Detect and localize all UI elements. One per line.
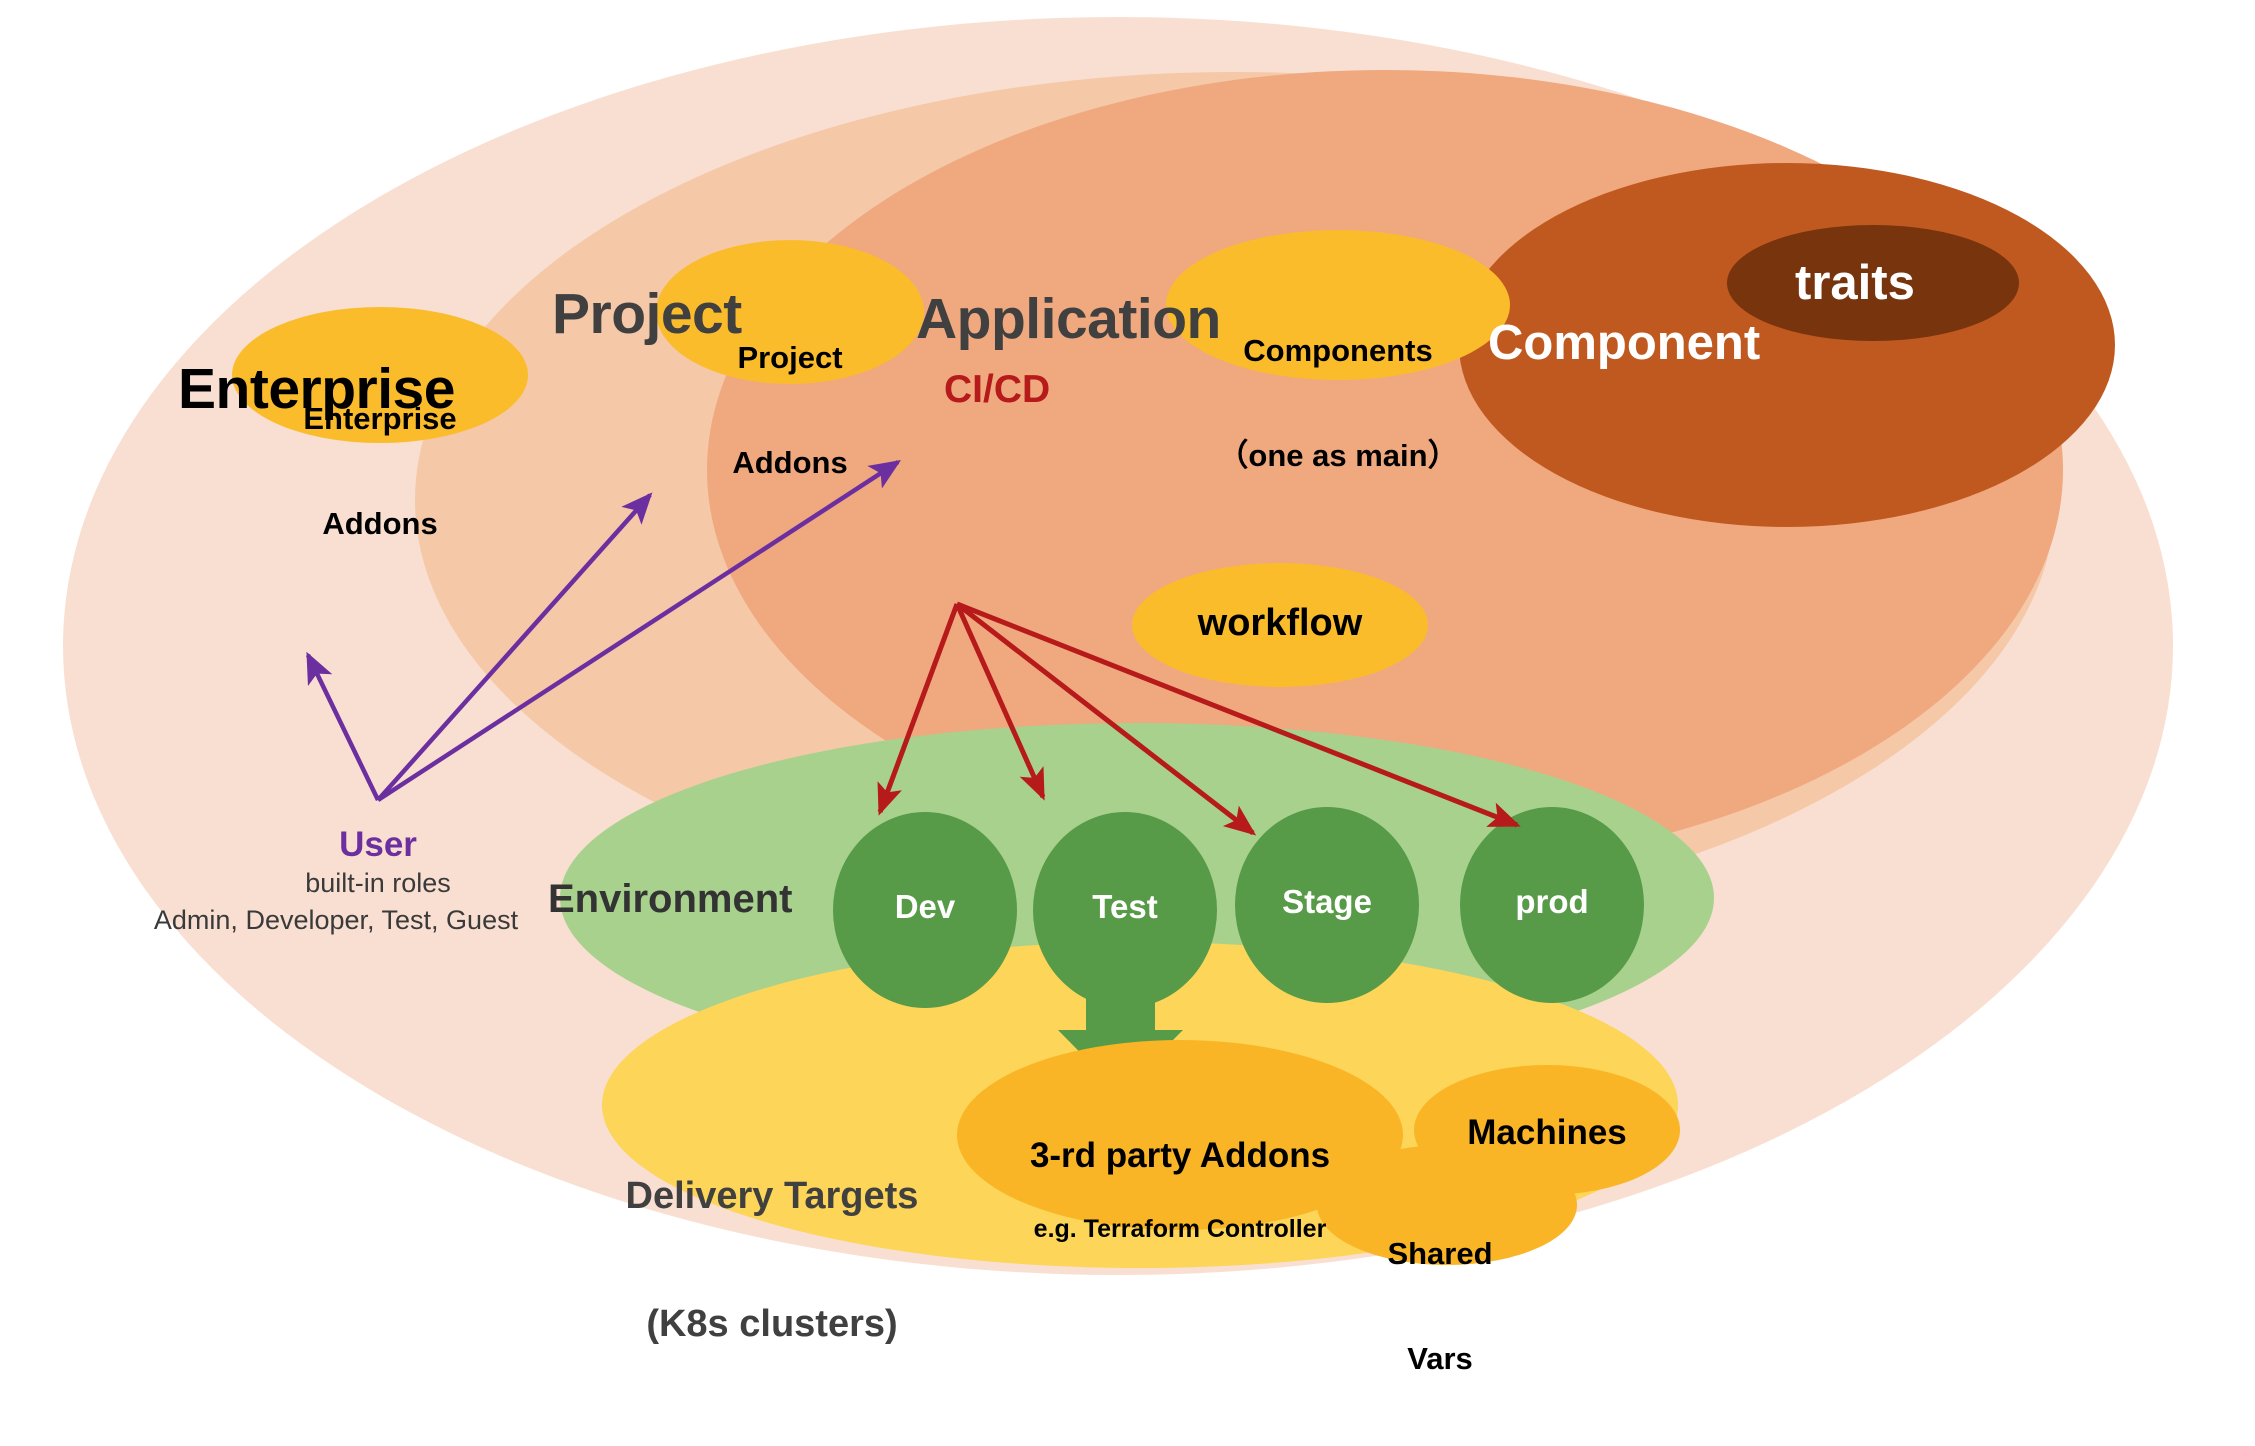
env-circle-prod bbox=[1460, 807, 1644, 1003]
third-party-addons-bubble bbox=[957, 1040, 1403, 1230]
workflow-bubble bbox=[1132, 563, 1428, 687]
traits-scope-ellipse bbox=[1727, 225, 2019, 341]
machines-bubble bbox=[1414, 1065, 1680, 1195]
component-scope-ellipse bbox=[1459, 163, 2115, 527]
shared-vars-line2: Vars bbox=[1310, 1342, 1570, 1377]
delivery-targets-line2: (K8s clusters) bbox=[562, 1303, 982, 1346]
diagram-shapes bbox=[0, 0, 2255, 1293]
project-addons-bubble bbox=[656, 240, 924, 384]
env-circle-stage bbox=[1235, 807, 1419, 1003]
diagram-canvas: Enterprise Addons Project Addons Compone… bbox=[0, 0, 2255, 1293]
components-bubble bbox=[1166, 230, 1510, 380]
env-circle-test bbox=[1033, 812, 1217, 1008]
enterprise-addons-bubble bbox=[232, 307, 528, 443]
env-circle-dev bbox=[833, 812, 1017, 1008]
